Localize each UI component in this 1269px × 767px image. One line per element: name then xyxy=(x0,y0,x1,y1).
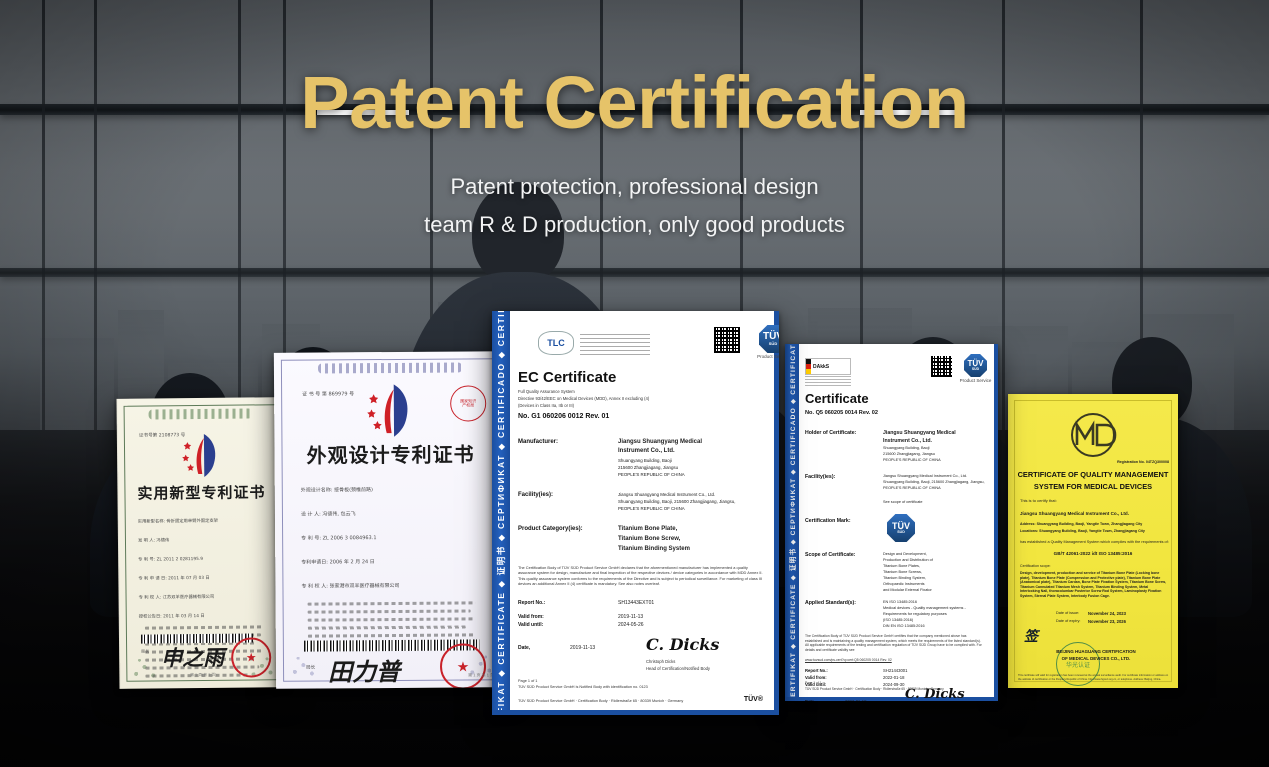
cert-number: No. Q5 060205 0014 Rev. 02 xyxy=(805,410,878,416)
tuv-mark-icon: TÜVSÜD xyxy=(887,514,915,542)
tlc-accreditation-icon: TLC xyxy=(538,331,574,355)
body-line: has established a Quality Management Sys… xyxy=(1020,540,1169,545)
row-value: Orthopaedic Instruments xyxy=(883,582,925,586)
row-value: (ISO 13485:2016) xyxy=(883,618,913,622)
report-no-label: Report No.: xyxy=(805,668,828,673)
cert-title: 外观设计专利证书 xyxy=(274,438,506,469)
row-value: Instrument Co., Ltd. xyxy=(618,448,675,454)
cert-sub-2: Directive 93/42/EEC on Medical Devices (… xyxy=(518,396,649,401)
valid-until-label: Valid until: xyxy=(518,622,543,628)
date-of-issue-label: Date of issue: xyxy=(1056,611,1079,616)
patent-field: 外观设计名称: 接骨板(颈椎前路) xyxy=(301,486,373,494)
row-value: Jiangsu Shuangyang Medical xyxy=(883,430,956,436)
md-logo-icon xyxy=(1057,412,1129,463)
certificate-design-patent[interactable]: 证 书 号 第 869979 号 国家知识产权局 外观设计专利证书 外观设计名称… xyxy=(274,351,508,689)
report-no-value: SH21443001 xyxy=(883,668,907,673)
row-value: Production and Distribution of xyxy=(883,558,933,562)
cnipa-logo-icon xyxy=(364,382,416,438)
row-value: Jiangsu Shuangyang Medical Instrument Co… xyxy=(618,492,715,497)
signer-label: 局长 xyxy=(141,649,149,655)
official-seal: ★ xyxy=(440,643,486,688)
subtitle-block: Patent protection, professional design t… xyxy=(0,168,1269,244)
row-value: 215600 Zhangjiagang, Jiangsu xyxy=(618,465,678,470)
date-of-expiry-label: Date of expiry: xyxy=(1056,619,1080,624)
cert-paragraph-link[interactable]: www.tuvsud.com/ps-cert?q=cert:Q5 060205 … xyxy=(805,658,983,663)
registry-seal: 国家知识产权局 xyxy=(450,385,486,421)
valid-from-label: Valid from: xyxy=(805,675,827,680)
cert-title-line-1: CERTIFICATE OF QUALITY MANAGEMENT xyxy=(1008,470,1178,480)
row-value: PEOPLE'S REPUBLIC OF CHINA xyxy=(883,458,941,462)
tuv-logo-caption: Product Service xyxy=(757,354,779,359)
certificate-ec[interactable]: ZERTIFIKAT ◆ CERTIFICATE ◆ 证明书 ◆ CEPTИФИ… xyxy=(492,311,779,715)
report-no-label: Report No.: xyxy=(518,600,545,606)
row-value: PEOPLE'S REPUBLIC OF CHINA xyxy=(618,506,685,511)
cert-side-band: ZERTIFIKAT ◆ CERTIFICATE ◆ 证明书 ◆ CEPTИФИ… xyxy=(785,344,799,701)
row-value: Instrument Co., Ltd. xyxy=(883,438,932,444)
row-value: DIN EN ISO 13485:2016 xyxy=(883,624,925,628)
row-value: Shuangyang Building, Baoji xyxy=(883,446,929,450)
date-label: Date, xyxy=(518,645,530,651)
tuv-corner-mark: TÜV® xyxy=(744,696,763,703)
patent-field: 实用新型名称: 骨折固定用单臂外固定支架 xyxy=(138,518,218,525)
signer-name: Christoph Dicks xyxy=(646,659,675,664)
valid-until-value: 2024-05-26 xyxy=(618,622,644,628)
address-line-2: Locations: Shuangyang Building, Baoji, Y… xyxy=(1020,529,1145,534)
date-of-expiry-value: November 23, 2026 xyxy=(1088,619,1126,625)
ornament-top xyxy=(318,363,462,374)
address-note: TÜV SÜD Product Service GmbH · Certifica… xyxy=(805,687,944,691)
subtitle-line-2: team R & D production, only good product… xyxy=(0,206,1269,244)
cert-paragraph: The Certification Body of TÜV SÜD Produc… xyxy=(518,565,763,586)
cert-paragraph: The Certification Body of TÜV SÜD Produc… xyxy=(805,634,983,652)
valid-from-label: Valid from: xyxy=(518,614,544,620)
cert-title-line-2: SYSTEM FOR MEDICAL DEVICES xyxy=(1008,482,1178,492)
row-value: Shuangyang Building, Baoji xyxy=(618,458,672,463)
row-label-facility: Facility(ies): xyxy=(805,474,835,480)
signature: C. Dicks xyxy=(646,635,719,654)
tuv-sud-logo-icon: TÜVSÜD Product Service xyxy=(759,325,779,353)
certificate-utility-model-patent[interactable]: 证书号第 2108773 号 实用新型专利证书 实用新型名称: 骨折固定用单臂外… xyxy=(116,397,287,689)
row-value: and Modular External Fixator xyxy=(883,588,932,592)
row-value: Titanium Bone Screw, xyxy=(618,536,680,542)
patent-field: 专 利 号: ZL 2006 3 0084963.1 xyxy=(301,534,376,542)
cert-heading: EC Certificate xyxy=(518,369,616,386)
row-value: PEOPLE'S REPUBLIC OF CHINA xyxy=(618,472,685,477)
row-value: EN ISO 13485:2016 xyxy=(883,600,917,604)
row-value: Shuangyang Building, Baoji, 215600 Zhang… xyxy=(883,480,985,484)
standard-reference: GB/T 42061-2022 idt ISO 13485:2016 xyxy=(1008,551,1178,557)
cert-number: No. G1 060206 0012 Rev. 01 xyxy=(518,413,609,420)
page-note: Page 1 of 1 xyxy=(518,679,537,683)
ornament-top xyxy=(149,408,253,419)
certificate-iso13485[interactable]: ZERTIFIKAT ◆ CERTIFICATE ◆ 证明书 ◆ CEPTИФИ… xyxy=(785,344,998,701)
patent-field: 设 计 人: 冯德伟, 包云飞 xyxy=(301,510,356,517)
row-label-product-category: Product Category(ies): xyxy=(518,526,583,532)
valid-from-value: 2022-01-18 xyxy=(883,675,904,680)
patent-field: 专利申请日: 2006 年 2 月 24 日 xyxy=(301,558,375,566)
row-value: Shuangyang Building, Baoji, 215600 Zhang… xyxy=(618,499,735,504)
cert-band-text: ZERTIFIKAT ◆ CERTIFICATE ◆ 证明书 ◆ CEPTИФИ… xyxy=(787,344,797,701)
cert-sub-1: Full Quality Assurance System xyxy=(518,389,575,394)
date-value: 2022-01-18 xyxy=(845,699,866,701)
patent-field: 专 利 权 人: 江苏双羊医疗器械有限公司 xyxy=(139,594,215,601)
row-value: Design and Development, xyxy=(883,552,927,556)
cert-side-band: ZERTIFIKAT ◆ CERTIFICATE ◆ 证明书 ◆ CEPTИФИ… xyxy=(492,311,510,715)
dakks-subtext-block xyxy=(805,376,851,386)
patent-field: 发 明 人: 冯德伟 xyxy=(138,537,169,543)
patent-field: 授权公告日: 2011 年 03 月 14 日 xyxy=(139,613,205,620)
signature: 申之雨 xyxy=(161,642,224,673)
subtitle-line-1: Patent protection, professional design xyxy=(0,168,1269,206)
report-no-value: SH13443EXT01 xyxy=(618,600,654,606)
row-value: Jiangsu Shuangyang Medical Instrument Co… xyxy=(883,474,967,478)
row-value: PEOPLE'S REPUBLIC OF CHINA xyxy=(883,486,941,490)
scope-label: Certification scope: xyxy=(1020,564,1051,569)
dakks-logo-icon: DAkkS xyxy=(805,358,851,375)
issuer-line-2: OF MEDICAL DEVICES CO., LTD. xyxy=(1030,656,1162,661)
signer-label: 局长 xyxy=(306,665,315,671)
row-label-scope: Scope of Certificate: xyxy=(805,552,855,558)
cert-content: DAkkS TÜVSÜD Product Service Certificate… xyxy=(805,344,988,701)
cert-edge-bar xyxy=(994,344,998,701)
row-value: Requirements for regulatory purposes xyxy=(883,612,947,616)
patent-field: 专 利 权 人: 张家港市双羊医疗器械有限公司 xyxy=(301,582,399,590)
row-label-applied-standards: Applied Standard(s): xyxy=(805,600,856,606)
intro-text: This is to certify that: xyxy=(1020,498,1057,503)
registration-number: Registration No. 04TZQ300008 xyxy=(1117,460,1169,464)
row-value: Titanium Binding System, xyxy=(883,576,926,580)
tuv-logo-caption: Product Service xyxy=(960,378,992,383)
row-label-manufacturer: Manufacturer: xyxy=(518,439,558,445)
tuv-sud-logo-icon: TÜVSÜD Product Service xyxy=(964,354,987,377)
patent-serial: 证 书 号 第 869979 号 xyxy=(302,390,354,397)
scope-text: Design, development, production and serv… xyxy=(1020,571,1168,599)
row-value: Titanium Binding System xyxy=(618,546,690,552)
certificate-md-quality-system[interactable]: Registration No. 04TZQ300008 CERTIFICATE… xyxy=(1008,394,1178,688)
signer-role: Head of Certification/Notified Body xyxy=(646,666,710,671)
row-value: Jiangsu Shuangyang Medical xyxy=(618,439,702,445)
patent-field: 专 利 号: ZL 2011 2 0281195.9 xyxy=(138,556,203,563)
hero-header: Patent Certification Patent protection, … xyxy=(0,0,1269,244)
row-value: See scope of certificate xyxy=(883,500,922,504)
issuer-line-1: BEIJING HUAGUANG CERTIFICATION xyxy=(1030,649,1162,654)
row-value: 215600 Zhangjiagang, Jiangsu xyxy=(883,452,935,456)
cert-title: 实用新型专利证书 xyxy=(117,481,285,504)
cert-heading: Certificate xyxy=(805,391,869,406)
page-note: 第 1 页 共 1 页 xyxy=(468,672,494,678)
qr-code xyxy=(931,356,952,377)
date-label: Date, xyxy=(805,699,815,701)
row-value: Titanium Bone Plate, xyxy=(618,526,677,532)
valid-from-value: 2019-11-13 xyxy=(618,614,643,620)
row-value: Titanium Bone Screws, xyxy=(883,570,922,574)
accreditation-text-block xyxy=(580,331,650,355)
row-label-facility: Facility(ies): xyxy=(518,492,553,498)
company-name: Jiangsu Shuangyang Medical Instrument Co… xyxy=(1020,511,1129,517)
cert-band-text: ZERTIFIKAT ◆ CERTIFICATE ◆ 证明书 ◆ CEPTИФИ… xyxy=(495,311,507,715)
patent-field: 专 利 申 请 日: 2011 年 07 月 03 日 xyxy=(138,575,209,582)
date-of-issue-value: November 24, 2023 xyxy=(1088,611,1126,617)
notified-body-note: TÜV SÜD Product Service GmbH is Notified… xyxy=(518,685,648,689)
address-line-1: Address: Shuangyang Building, Baoji, Yan… xyxy=(1020,522,1142,527)
hero-banner: Patent Certification Patent protection, … xyxy=(0,0,1269,767)
cnipa-logo-icon xyxy=(180,432,222,478)
row-value: Medical devices - Quality management sys… xyxy=(883,606,966,610)
page-title: Patent Certification xyxy=(0,66,1269,140)
address-note: TÜV SÜD Product Service GmbH · Certifica… xyxy=(518,699,683,703)
cert-content: TLC TÜVSÜD Product Service EC Certificat… xyxy=(518,311,767,715)
signature: 田力普 xyxy=(328,652,400,688)
row-label-certification-mark: Certification Mark: xyxy=(805,518,851,524)
issuer-signature: 签 xyxy=(1024,626,1038,646)
row-label-holder: Holder of Certificate: xyxy=(805,430,856,436)
patent-serial: 证书号第 2108773 号 xyxy=(139,432,185,438)
cert-sub-3: (Devices in Class IIa, IIb or III) xyxy=(518,403,574,408)
row-value: Titanium Bone Plates, xyxy=(883,564,920,568)
date-value: 2019-11-13 xyxy=(570,645,595,651)
dakks-label: DAkkS xyxy=(811,364,829,370)
qr-code xyxy=(714,327,740,353)
cert-edge-bar xyxy=(774,311,779,715)
footnote: This certificate will valid for registra… xyxy=(1018,674,1170,681)
page-note: Page 1 of 1 xyxy=(805,681,821,685)
